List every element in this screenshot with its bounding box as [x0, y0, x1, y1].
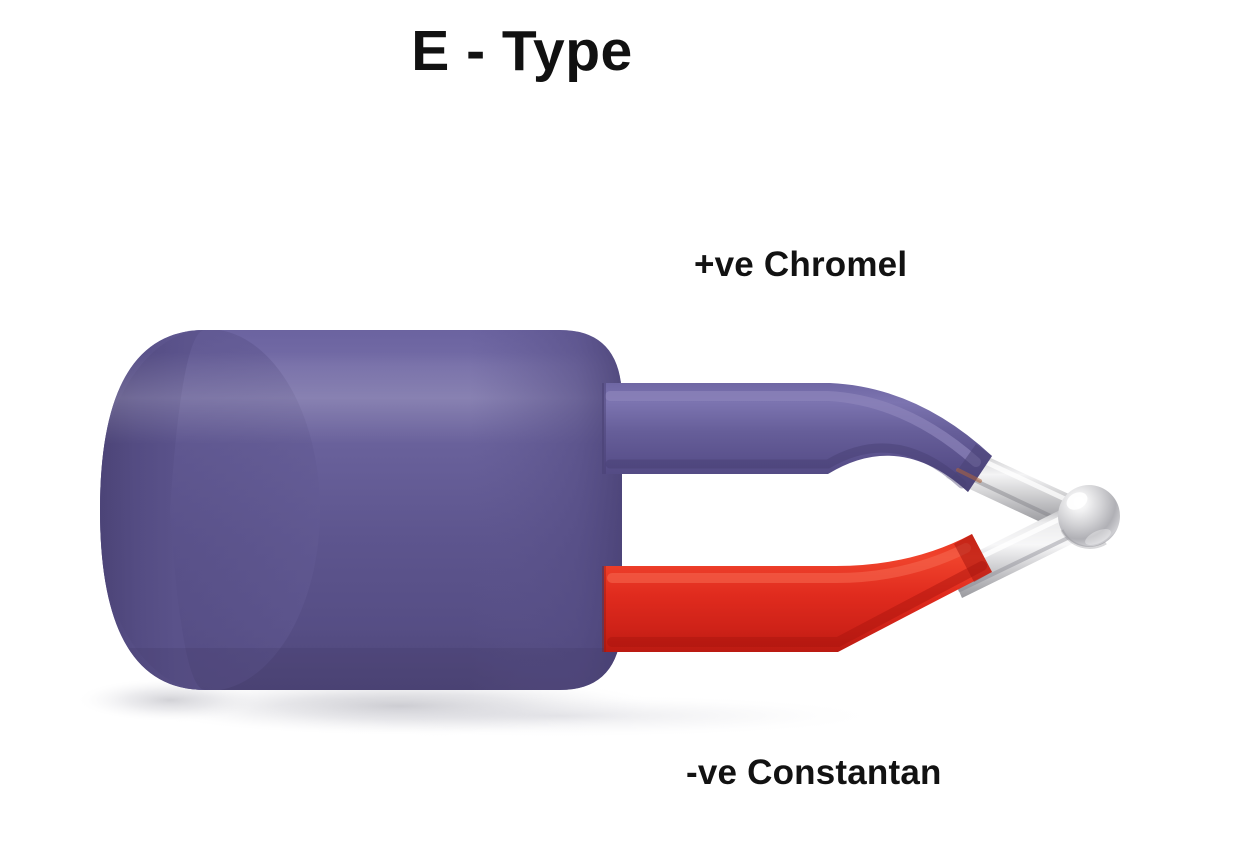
positive-lead-wire [604, 383, 992, 492]
negative-lead-wire [604, 534, 992, 652]
probe-body [96, 329, 622, 692]
thermocouple-illustration [0, 0, 1254, 846]
measuring-junction-bead [1058, 485, 1120, 548]
diagram-canvas: E - Type +ve Chromel -ve Constantan [0, 0, 1254, 846]
